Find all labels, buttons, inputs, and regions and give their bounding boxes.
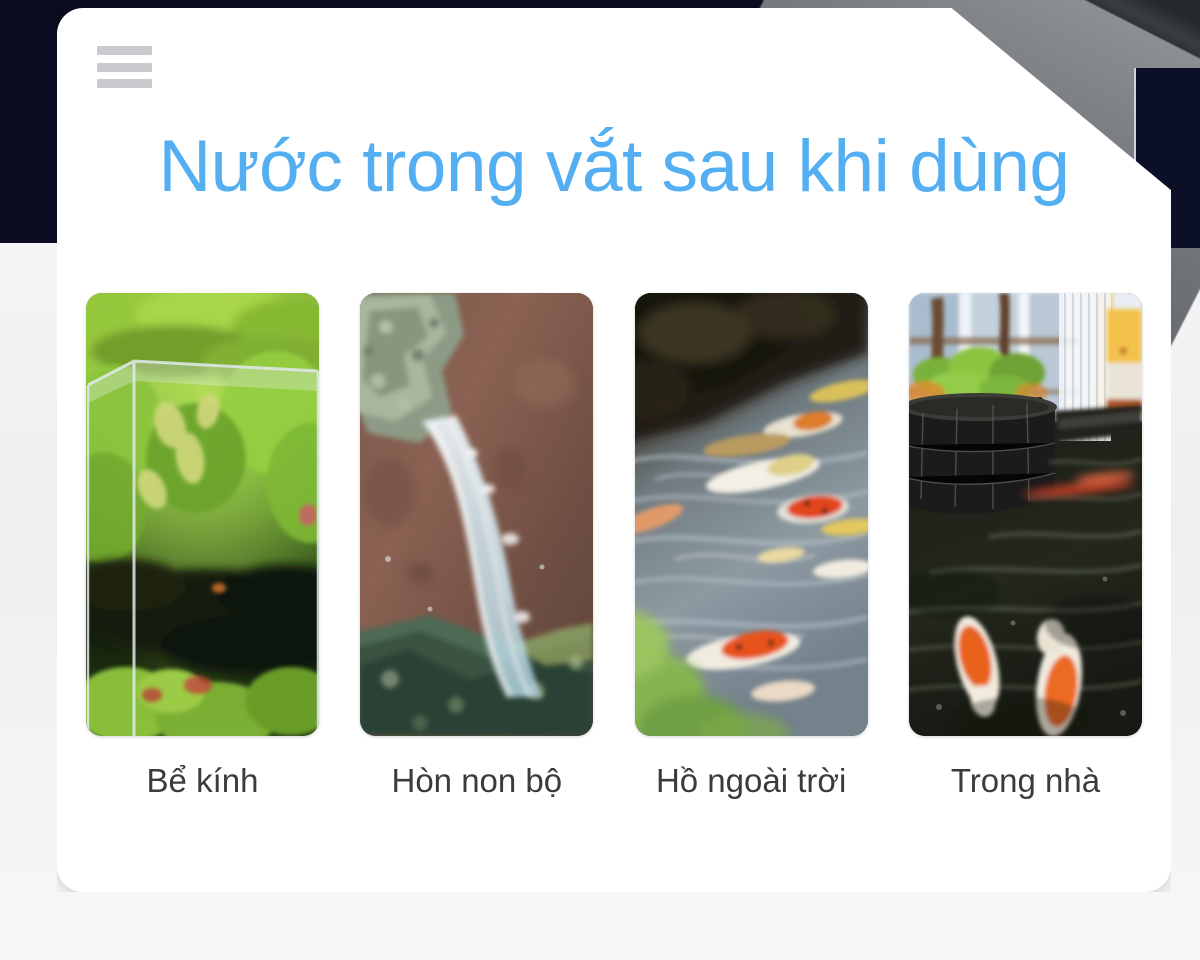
hamburger-bar-bottom bbox=[97, 79, 152, 88]
gallery-caption: Hồ ngoài trời bbox=[635, 762, 868, 800]
outdoor-koi-pond-photo[interactable] bbox=[635, 293, 868, 736]
gallery-item-ho-ngoai-troi[interactable]: Hồ ngoài trời bbox=[635, 293, 868, 800]
content-card: Nước trong vắt sau khi dùng bbox=[57, 8, 1171, 892]
hamburger-bar-top bbox=[97, 46, 152, 55]
planted-glass-aquarium-photo[interactable] bbox=[86, 293, 319, 736]
gallery-caption: Trong nhà bbox=[909, 762, 1142, 800]
screenshot-stage: Nước trong vắt sau khi dùng bbox=[0, 0, 1200, 960]
rock-waterfall-feature-photo[interactable] bbox=[360, 293, 593, 736]
page-title: Nước trong vắt sau khi dùng bbox=[57, 128, 1171, 207]
hamburger-bar-middle bbox=[97, 63, 152, 72]
gallery-item-trong-nha[interactable]: Trong nhà bbox=[909, 293, 1142, 800]
gallery-row: Bể kính bbox=[86, 293, 1142, 800]
indoor-koi-pond-photo[interactable] bbox=[909, 293, 1142, 736]
gallery-caption: Bể kính bbox=[86, 762, 319, 800]
gallery-item-be-kinh[interactable]: Bể kính bbox=[86, 293, 319, 800]
hamburger-menu-icon[interactable] bbox=[97, 46, 152, 88]
gallery-item-hon-non-bo[interactable]: Hòn non bộ bbox=[360, 293, 593, 800]
gallery-caption: Hòn non bộ bbox=[360, 762, 593, 800]
